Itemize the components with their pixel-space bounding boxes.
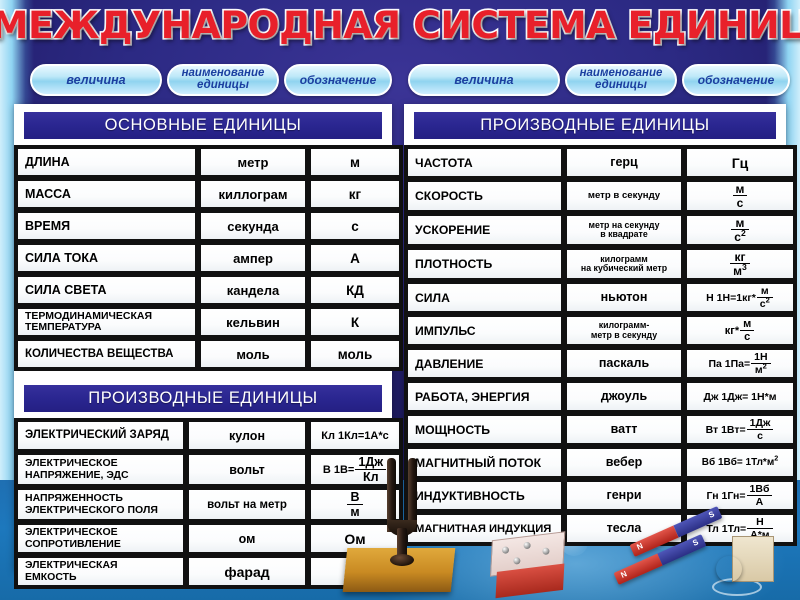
pill-unit-name-left: наименование единицы xyxy=(167,64,279,96)
unit-line1: килограмм- xyxy=(599,320,650,330)
quantity-line2: НАПРЯЖЕНИЕ, ЭДС xyxy=(25,469,129,481)
fraction-denominator: м xyxy=(347,505,362,519)
cell-quantity: СКОРОСТЬ xyxy=(406,180,563,212)
table-row: ЭЛЕКТРИЧЕСКОЕ НАПРЯЖЕНИЕ, ЭДС вольт В 1В… xyxy=(16,453,401,486)
left-panel: ОСНОВНЫЕ ЕДИНИЦЫ ДЛИНА метр м МАССА килл… xyxy=(14,104,392,570)
cell-unit: метр в секунду xyxy=(565,180,683,212)
fraction-numerator: 1Н xyxy=(751,352,770,364)
symbol-prefix: Па 1Па= xyxy=(708,358,750,370)
cell-unit: секунда xyxy=(199,211,307,241)
symbol-exponent: 2 xyxy=(774,454,778,463)
cell-quantity: ЭЛЕКТРИЧЕСКИЙ ЗАРЯД xyxy=(16,420,185,451)
fraction: мс2 xyxy=(731,217,748,243)
table-row: ДЛИНА метр м xyxy=(16,147,401,177)
cell-unit: кельвин xyxy=(199,307,307,337)
fraction-denominator: м3 xyxy=(730,264,750,277)
right-column-pills: величина наименование единицы обозначени… xyxy=(408,64,790,96)
cell-unit: генри xyxy=(565,480,683,511)
fraction-numerator: 1Вб xyxy=(747,484,773,496)
table-row: ЧАСТОТА герц Гц xyxy=(406,147,795,178)
cell-unit: метр на секунду в квадрате xyxy=(565,214,683,246)
cell-symbol: Гн 1Гн=1ВбА xyxy=(685,480,795,511)
table-row: СИЛА ньютон Н 1Н=1кг*мс2 xyxy=(406,282,795,313)
symbol-prefix: Вт 1Вт= xyxy=(706,424,746,436)
fraction-denominator: с2 xyxy=(757,298,773,310)
table-row: РАБОТА, ЭНЕРГИЯ джоуль Дж 1Дж= 1Н*м xyxy=(406,381,795,412)
pill-symbol-right-label: обозначение xyxy=(698,74,775,86)
table-row: ЭЛЕКТРИЧЕСКИЙ ЗАРЯД кулон Кл 1Кл=1А*с xyxy=(16,420,401,451)
symbol-prefix: кг* xyxy=(725,325,739,337)
cell-quantity: ДАВЛЕНИЕ xyxy=(406,348,563,379)
cell-quantity: ТЕРМОДИНАМИЧЕСКАЯ ТЕМПЕРАТУРА xyxy=(16,307,197,337)
unit-line1: метр на секунду xyxy=(588,220,659,230)
cell-symbol: кгм3 xyxy=(685,248,795,280)
cell-quantity: НАПРЯЖЕННОСТЬ ЭЛЕКТРИЧЕСКОГО ПОЛЯ xyxy=(16,488,185,521)
cell-symbol: Кл 1Кл=1А*с xyxy=(309,420,401,451)
cell-symbol: А xyxy=(309,243,401,273)
cell-quantity: УСКОРЕНИЕ xyxy=(406,214,563,246)
cell-unit: килограмм на кубический метр xyxy=(565,248,683,280)
den-exponent: 2 xyxy=(741,228,746,238)
table-row: УСКОРЕНИЕ метр на секунду в квадрате мс2 xyxy=(406,214,795,246)
den-base: м xyxy=(755,364,763,376)
pill-quantity-left: величина xyxy=(30,64,162,96)
fraction: 1ВбА xyxy=(747,484,773,507)
cell-symbol: Вт 1Вт=1Джс xyxy=(685,414,795,445)
cell-quantity: СИЛА xyxy=(406,282,563,313)
table-row: МАГНИТНЫЙ ПОТОК вебер Вб 1Вб= 1Тл*м2 xyxy=(406,447,795,478)
unit-line2: метр в секунду xyxy=(591,330,657,340)
cell-unit: фарад xyxy=(187,556,307,587)
quantity-line2: ЭЛЕКТРИЧЕСКОГО ПОЛЯ xyxy=(25,504,158,516)
cell-unit: вольт xyxy=(187,453,307,486)
cell-quantity: СИЛА ТОКА xyxy=(16,243,197,273)
cell-unit: моль xyxy=(199,339,307,369)
den-exponent: 2 xyxy=(763,361,767,370)
cell-quantity: КОЛИЧЕСТВА ВЕЩЕСТВА xyxy=(16,339,197,369)
cell-symbol: Гц xyxy=(685,147,795,178)
left-column-pills: величина наименование единицы обозначени… xyxy=(30,64,392,96)
fraction-numerator: 1Дж xyxy=(747,418,774,430)
table-row: ИМПУЛЬС килограмм- метр в секунду кг*мс xyxy=(406,315,795,346)
symbol-prefix: Гн 1Гн= xyxy=(707,490,746,502)
pill-symbol-left: обозначение xyxy=(284,64,392,96)
cell-quantity: ЭЛЕКТРИЧЕСКАЯ ЕМКОСТЬ xyxy=(16,556,185,587)
tuning-fork-icon xyxy=(385,456,419,562)
cell-symbol: м xyxy=(309,147,401,177)
fraction-denominator: Кл xyxy=(355,470,386,484)
cell-quantity: ВРЕМЯ xyxy=(16,211,197,241)
device-sphere xyxy=(716,556,742,582)
cell-symbol: мс2 xyxy=(685,214,795,246)
quantity-line1: НАПРЯЖЕННОСТЬ xyxy=(25,492,123,504)
fraction: мс xyxy=(733,183,748,209)
symbol-prefix: В 1В= xyxy=(323,464,355,476)
cell-unit: ампер xyxy=(199,243,307,273)
fraction-numerator: м xyxy=(733,183,748,196)
quantity-line2: ТЕМПЕРАТУРА xyxy=(25,321,101,333)
symbol-text: Вб 1Вб= 1Тл*м xyxy=(702,457,774,468)
fraction-denominator: с xyxy=(733,196,748,209)
table-row: ЭЛЕКТРИЧЕСКОЕ СОПРОТИВЛЕНИЕ ом Ом xyxy=(16,523,401,554)
table-row: СКОРОСТЬ метр в секунду мс xyxy=(406,180,795,212)
table-row: МАССА киллограм кг xyxy=(16,179,401,209)
table-row: ИНДУКТИВНОСТЬ генри Гн 1Гн=1ВбА xyxy=(406,480,795,511)
cell-unit: вебер xyxy=(565,447,683,478)
cell-unit: ватт xyxy=(565,414,683,445)
den-base: с xyxy=(734,230,741,244)
cell-symbol: с xyxy=(309,211,401,241)
table-row: МОЩНОСТЬ ватт Вт 1Вт=1Джс xyxy=(406,414,795,445)
unit-line2: на кубический метр xyxy=(581,263,667,273)
pill-unit-name-left-line2: единицы xyxy=(182,80,265,92)
table-row: ТЕРМОДИНАМИЧЕСКАЯ ТЕМПЕРАТУРА кельвин К xyxy=(16,307,401,337)
fraction: 1Нм2 xyxy=(751,352,770,375)
cell-unit: кулон xyxy=(187,420,307,451)
cell-symbol: Дж 1Дж= 1Н*м xyxy=(685,381,795,412)
cell-symbol: Па 1Па=1Нм2 xyxy=(685,348,795,379)
fraction-denominator: с xyxy=(747,430,774,442)
base-units-table: ДЛИНА метр м МАССА киллограм кг ВРЕМЯ се… xyxy=(14,145,403,371)
table-row: СИЛА СВЕТА кандела КД xyxy=(16,275,401,305)
table-row: СИЛА ТОКА ампер А xyxy=(16,243,401,273)
derived-units-left-heading: ПРОИЗВОДНЫЕ ЕДИНИЦЫ xyxy=(24,385,382,412)
cell-symbol: кг*мс xyxy=(685,315,795,346)
cell-unit: ом xyxy=(187,523,307,554)
unit-line2: в квадрате xyxy=(600,229,648,239)
fraction: Вм xyxy=(347,491,362,518)
fraction-numerator: Н xyxy=(747,517,772,529)
fraction: 1Джс xyxy=(747,418,774,441)
fraction-denominator: с2 xyxy=(731,230,748,243)
cell-quantity: МОЩНОСТЬ xyxy=(406,414,563,445)
right-panel: ПРОИЗВОДНЫЕ ЕДИНИЦЫ ЧАСТОТА герц Гц СКОР… xyxy=(404,104,786,524)
pill-unit-name-right-line2: единицы xyxy=(580,80,663,92)
fraction: мс2 xyxy=(757,286,773,309)
cell-unit: джоуль xyxy=(565,381,683,412)
derived-units-right-table: ЧАСТОТА герц Гц СКОРОСТЬ метр в секунду … xyxy=(404,145,797,546)
pill-quantity-right: величина xyxy=(408,64,560,96)
cell-symbol: моль xyxy=(309,339,401,369)
cell-quantity: МАССА xyxy=(16,179,197,209)
fraction: кгм3 xyxy=(730,251,750,277)
cell-quantity: ЭЛЕКТРИЧЕСКОЕ НАПРЯЖЕНИЕ, ЭДС xyxy=(16,453,185,486)
den-base: м xyxy=(733,264,742,278)
den-exponent: 3 xyxy=(742,262,747,272)
fraction-numerator: м xyxy=(740,319,754,331)
poster-title: МЕЖДУНАРОДНАЯ СИСТЕМА ЕДИНИЦ (СИ) xyxy=(0,4,800,47)
quantity-line1: ЭЛЕКТРИЧЕСКОЕ xyxy=(25,526,118,538)
cell-quantity: ИНДУКТИВНОСТЬ xyxy=(406,480,563,511)
quantity-line2: ЕМКОСТЬ xyxy=(25,571,77,583)
quantity-line2: СОПРОТИВЛЕНИЕ xyxy=(25,538,121,550)
cell-symbol: кг xyxy=(309,179,401,209)
fork-base xyxy=(390,554,414,566)
cell-quantity: ДЛИНА xyxy=(16,147,197,177)
pill-unit-name-right: наименование единицы xyxy=(565,64,677,96)
galvanometer-icon xyxy=(489,532,568,598)
cell-symbol: мс xyxy=(685,180,795,212)
fraction-denominator: с xyxy=(740,331,754,343)
cell-unit: паскаль xyxy=(565,348,683,379)
cell-symbol: К xyxy=(309,307,401,337)
cell-symbol: Н 1Н=1кг*мс2 xyxy=(685,282,795,313)
derived-units-right-heading: ПРОИЗВОДНЫЕ ЕДИНИЦЫ xyxy=(414,112,776,139)
table-row: НАПРЯЖЕННОСТЬ ЭЛЕКТРИЧЕСКОГО ПОЛЯ вольт … xyxy=(16,488,401,521)
fraction-denominator: м2 xyxy=(751,364,770,376)
table-row: ВРЕМЯ секунда с xyxy=(16,211,401,241)
cell-quantity: РАБОТА, ЭНЕРГИЯ xyxy=(406,381,563,412)
table-row: ПЛОТНОСТЬ килограмм на кубический метр к… xyxy=(406,248,795,280)
quantity-line1: ЭЛЕКТРИЧЕСКОЕ xyxy=(25,457,118,469)
cell-quantity: ПЛОТНОСТЬ xyxy=(406,248,563,280)
pill-quantity-right-label: величина xyxy=(454,74,513,87)
cell-quantity: ИМПУЛЬС xyxy=(406,315,563,346)
poster-title-wrap: МЕЖДУНАРОДНАЯ СИСТЕМА ЕДИНИЦ (СИ) xyxy=(0,4,800,58)
cell-symbol: КД xyxy=(309,275,401,305)
cell-quantity: ЧАСТОТА xyxy=(406,147,563,178)
cell-quantity: СИЛА СВЕТА xyxy=(16,275,197,305)
symbol-prefix: Н 1Н=1кг* xyxy=(706,292,756,304)
pill-symbol-right: обозначение xyxy=(682,64,790,96)
cell-quantity: ЭЛЕКТРИЧЕСКОЕ СОПРОТИВЛЕНИЕ xyxy=(16,523,185,554)
cell-quantity: МАГНИТНЫЙ ПОТОК xyxy=(406,447,563,478)
fraction-numerator: 1Дж xyxy=(355,456,386,470)
electroscope-icon xyxy=(716,530,778,596)
pill-quantity-left-label: величина xyxy=(66,74,125,87)
cell-unit: вольт на метр xyxy=(187,488,307,521)
unit-line1: килограмм xyxy=(600,254,648,264)
cell-unit: герц xyxy=(565,147,683,178)
den-exponent: 2 xyxy=(766,295,770,304)
fraction: 1ДжКл xyxy=(355,456,386,483)
si-units-poster: МЕЖДУНАРОДНАЯ СИСТЕМА ЕДИНИЦ (СИ) величи… xyxy=(0,0,800,600)
quantity-line1: ЭЛЕКТРИЧЕСКАЯ xyxy=(25,559,118,571)
fraction-denominator: А xyxy=(747,496,773,508)
cell-symbol: Вб 1Вб= 1Тл*м2 xyxy=(685,447,795,478)
fraction: мс xyxy=(740,319,754,343)
pill-symbol-left-label: обозначение xyxy=(300,74,377,86)
table-row: КОЛИЧЕСТВА ВЕЩЕСТВА моль моль xyxy=(16,339,401,369)
fraction-numerator: В xyxy=(347,491,362,505)
cell-unit: метр xyxy=(199,147,307,177)
cell-unit: ньютон xyxy=(565,282,683,313)
cell-unit: кандела xyxy=(199,275,307,305)
cell-unit: киллограм xyxy=(199,179,307,209)
base-units-heading: ОСНОВНЫЕ ЕДИНИЦЫ xyxy=(24,112,382,139)
table-row: ДАВЛЕНИЕ паскаль Па 1Па=1Нм2 xyxy=(406,348,795,379)
cell-unit: килограмм- метр в секунду xyxy=(565,315,683,346)
